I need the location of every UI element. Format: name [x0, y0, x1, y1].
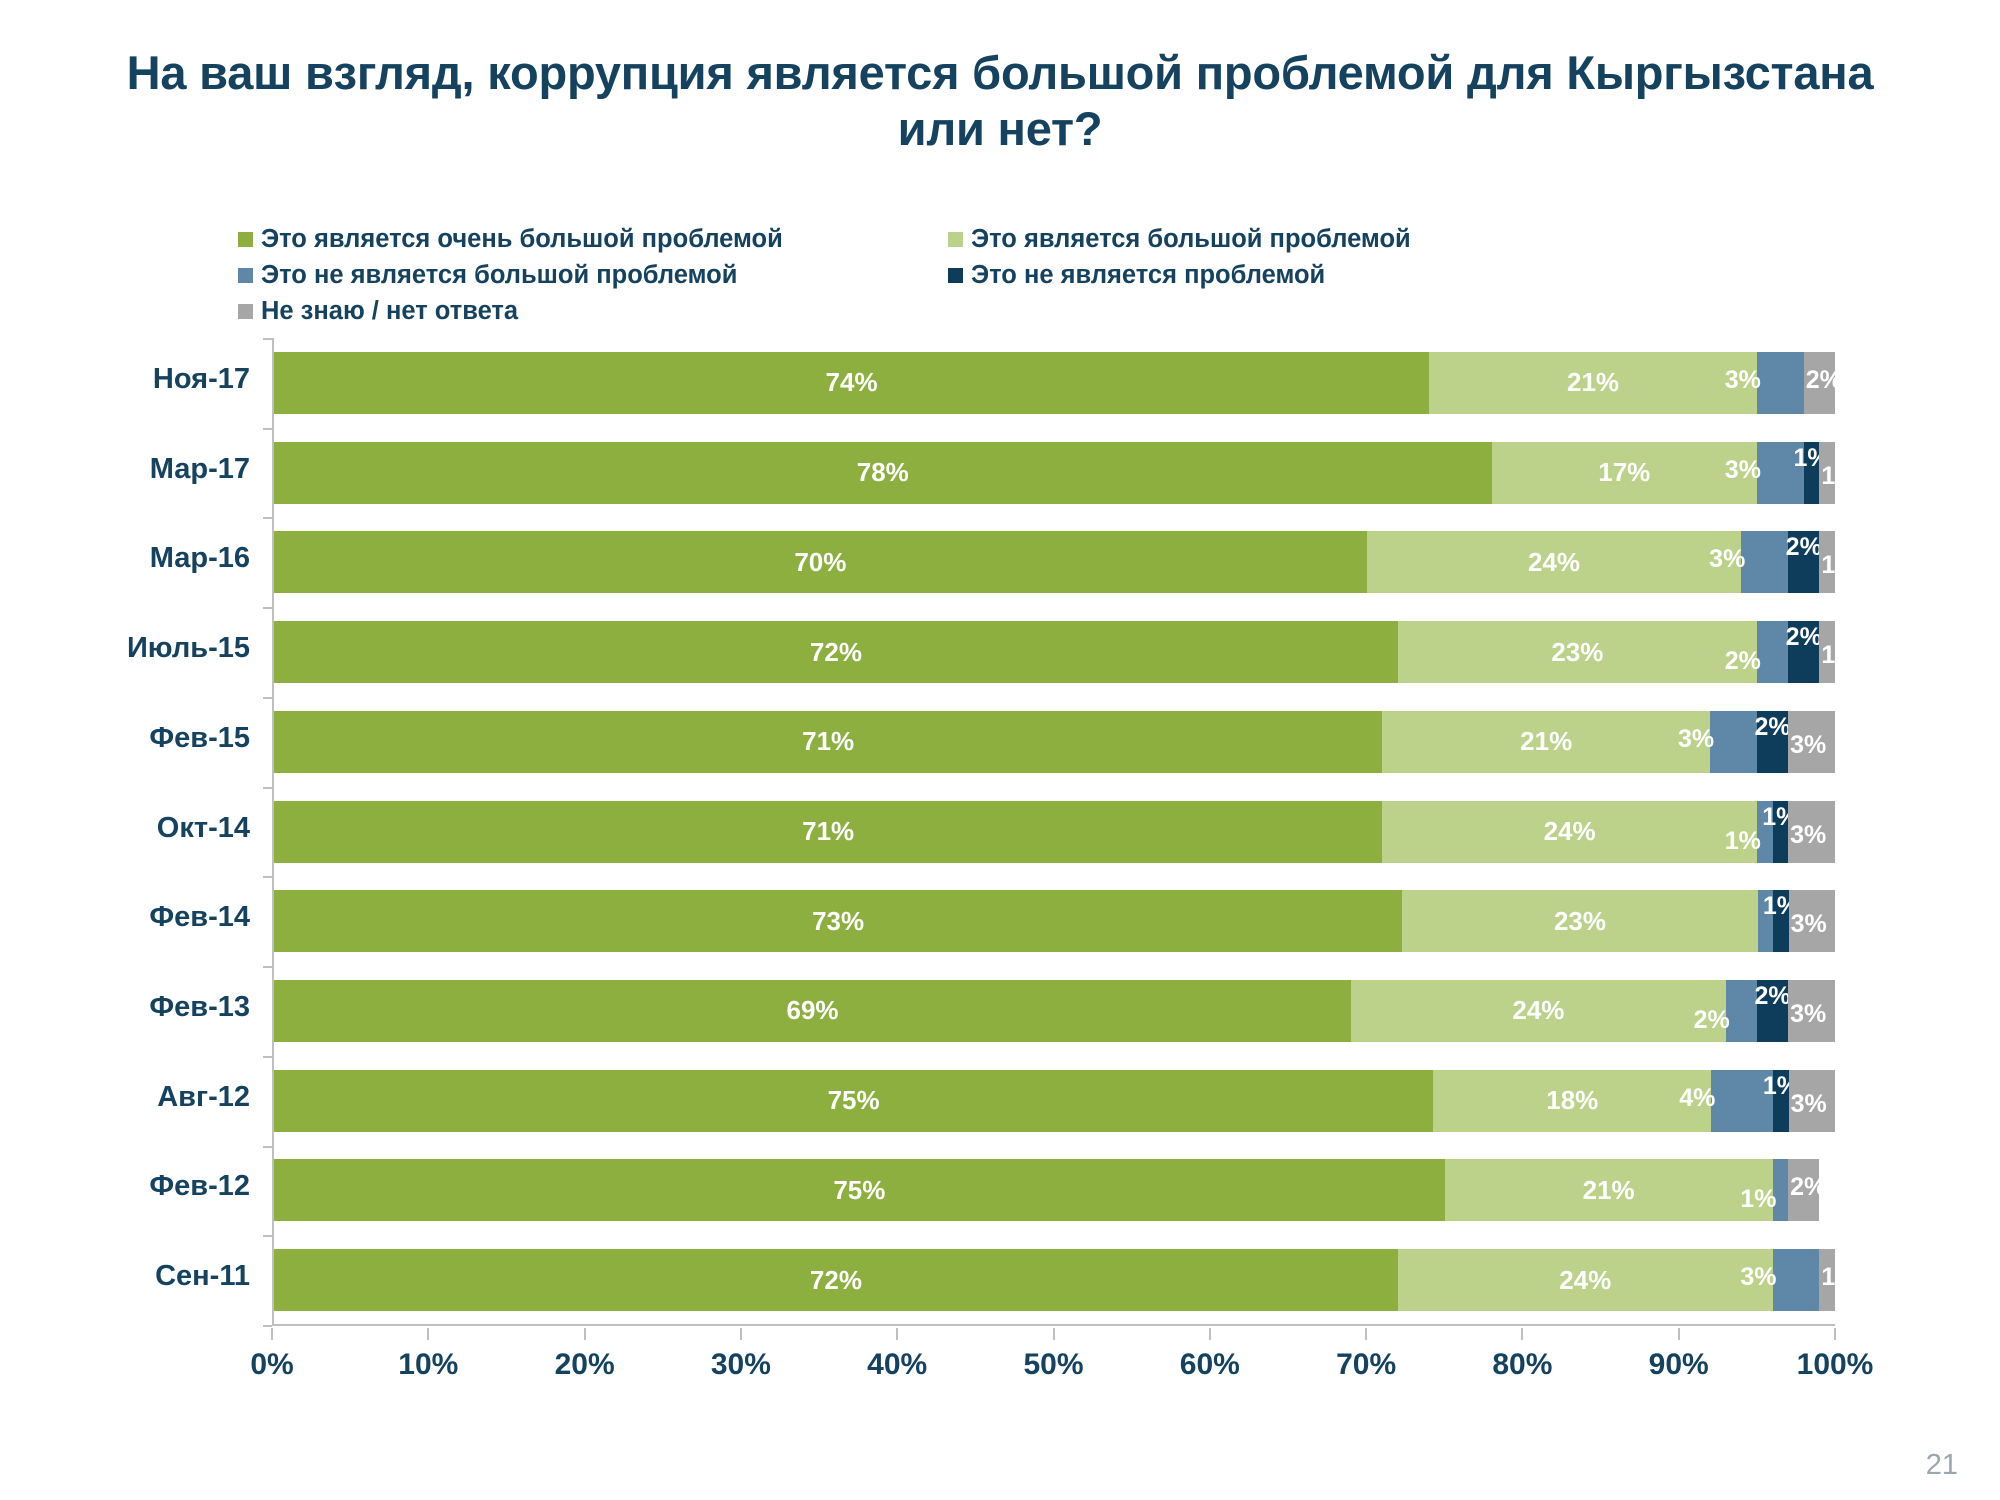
- bar-segment-big[interactable]: 24%: [1351, 980, 1726, 1042]
- bar-segment-very_big[interactable]: 74%: [274, 352, 1429, 414]
- value-axis-tick: [271, 1328, 273, 1340]
- bar-row[interactable]: 72%24%3%1%: [274, 1249, 1835, 1311]
- axis-tick: [263, 428, 272, 430]
- bar-segment-not_big[interactable]: 3%: [1741, 531, 1788, 593]
- legend-label: Это не является проблемой: [971, 261, 1325, 290]
- value-axis-label-6: 60%: [1180, 1348, 1240, 1382]
- bar-row[interactable]: 70%24%3%2%1%: [274, 531, 1835, 593]
- value-axis-label-9: 90%: [1649, 1348, 1709, 1382]
- bar-segment-dont_know[interactable]: 1%: [1819, 531, 1835, 593]
- bar-segment-value: 2%: [1806, 366, 1842, 395]
- category-label-6: Фев-14: [90, 901, 250, 934]
- bar-segment-dont_know[interactable]: 3%: [1789, 1070, 1835, 1132]
- bar-segment-value: 70%: [794, 547, 846, 578]
- value-axis-label-5: 50%: [1023, 1348, 1083, 1382]
- bar-segment-very_big[interactable]: 72%: [274, 1249, 1398, 1311]
- value-axis-tick: [1053, 1328, 1055, 1340]
- bar-segment-not_problem[interactable]: 2%: [1757, 980, 1788, 1042]
- legend-swatch-dont_know: [238, 304, 253, 319]
- value-axis-label-0: 0%: [250, 1348, 293, 1382]
- value-axis-label-1: 10%: [398, 1348, 458, 1382]
- bar-segment-value: 21%: [1567, 367, 1619, 398]
- bar-segment-not_big[interactable]: 3%: [1757, 442, 1804, 504]
- category-label-10: Сен-11: [90, 1260, 250, 1293]
- bar-segment-big[interactable]: 24%: [1398, 1249, 1773, 1311]
- bar-segment-very_big[interactable]: 72%: [274, 621, 1398, 683]
- category-axis-line: [272, 1324, 1835, 1326]
- bar-segment-very_big[interactable]: 71%: [274, 801, 1382, 863]
- bar-segment-value: 1%: [1821, 462, 1857, 491]
- bar-segment-value: 2%: [1754, 713, 1790, 742]
- bar-segment-value: 3%: [1790, 731, 1826, 760]
- axis-tick: [263, 1146, 272, 1148]
- value-axis-tick: [1365, 1328, 1367, 1340]
- bar-segment-value: 18%: [1546, 1085, 1598, 1116]
- bar-row[interactable]: 69%24%2%2%3%: [274, 980, 1835, 1042]
- slide: На ваш взгляд, коррупция является большо…: [0, 0, 2000, 1500]
- value-axis-tick: [1834, 1328, 1836, 1340]
- axis-tick: [263, 607, 272, 609]
- bar-segment-not_problem[interactable]: 1%: [1773, 890, 1788, 952]
- value-axis-tick: [584, 1328, 586, 1340]
- value-axis-label-2: 20%: [555, 1348, 615, 1382]
- bar-segment-big[interactable]: 24%: [1382, 801, 1757, 863]
- legend-label: Это является большой проблемой: [971, 225, 1411, 254]
- bar-segment-very_big[interactable]: 75%: [274, 1070, 1433, 1132]
- bar-segment-value: 17%: [1598, 457, 1650, 488]
- bar-segment-value: 21%: [1583, 1175, 1635, 1206]
- value-axis-tick: [1521, 1328, 1523, 1340]
- bar-segment-value: 3%: [1790, 1000, 1826, 1029]
- value-axis-tick: [896, 1328, 898, 1340]
- bar-segment-dont_know[interactable]: 1%: [1819, 442, 1835, 504]
- bar-segment-value: 24%: [1559, 1265, 1611, 1296]
- bar-segment-big[interactable]: 18%: [1433, 1070, 1711, 1132]
- bar-segment-value: 78%: [857, 457, 909, 488]
- bar-row[interactable]: 71%21%3%2%3%: [274, 711, 1835, 773]
- bar-segment-big[interactable]: 23%: [1398, 621, 1757, 683]
- legend-item-not_big[interactable]: Это не является большой проблемой: [238, 258, 948, 292]
- bar-segment-value: 24%: [1528, 547, 1580, 578]
- axis-tick: [263, 338, 272, 340]
- bar-segment-value: 2%: [1790, 1173, 1826, 1202]
- bar-segment-big[interactable]: 17%: [1492, 442, 1757, 504]
- bar-segment-very_big[interactable]: 71%: [274, 711, 1382, 773]
- bar-segment-very_big[interactable]: 78%: [274, 442, 1492, 504]
- value-axis-label-3: 30%: [711, 1348, 771, 1382]
- bar-segment-value: 73%: [812, 906, 864, 937]
- bar-segment-not_big[interactable]: 2%: [1757, 621, 1788, 683]
- bar-segment-value: 2%: [1754, 982, 1790, 1011]
- value-axis-label-10: 100%: [1797, 1348, 1874, 1382]
- bar-segment-big[interactable]: 21%: [1445, 1159, 1773, 1221]
- bar-segment-dont_know[interactable]: 3%: [1788, 801, 1835, 863]
- legend-item-dont_know[interactable]: Не знаю / нет ответа: [238, 294, 948, 328]
- bar-segment-big[interactable]: 21%: [1382, 711, 1710, 773]
- category-label-1: Мар-17: [90, 453, 250, 486]
- value-axis-tick: [1678, 1328, 1680, 1340]
- bar-segment-value: 1%: [1821, 641, 1857, 670]
- bar-segment-big[interactable]: 23%: [1402, 890, 1757, 952]
- legend-swatch-not_problem: [948, 268, 963, 283]
- bar-segment-value: 23%: [1551, 637, 1603, 668]
- bar-segment-value: 72%: [810, 637, 862, 668]
- bar-segment-value: 21%: [1520, 726, 1572, 757]
- legend-item-very_big[interactable]: Это является очень большой проблемой: [238, 222, 948, 256]
- bar-segment-not_problem[interactable]: 1%: [1773, 1070, 1788, 1132]
- bar-segment-value: 2%: [1786, 623, 1822, 652]
- axis-tick: [263, 1235, 272, 1237]
- bar-segment-very_big[interactable]: 70%: [274, 531, 1367, 593]
- bar-segment-value: 1%: [1821, 1263, 1857, 1292]
- bar-segment-not_big[interactable]: [1758, 890, 1773, 952]
- bar-row[interactable]: 73%23%1%3%: [274, 890, 1835, 952]
- bar-segment-value: 69%: [787, 995, 839, 1026]
- value-axis-tick: [1209, 1328, 1211, 1340]
- bar-segment-very_big[interactable]: 69%: [274, 980, 1351, 1042]
- category-label-4: Фев-15: [90, 722, 250, 755]
- legend-swatch-not_big: [238, 268, 253, 283]
- axis-tick: [263, 1325, 272, 1327]
- bar-segment-value: 24%: [1544, 816, 1596, 847]
- bar-segment-value: 71%: [802, 726, 854, 757]
- category-label-9: Фев-12: [90, 1170, 250, 1203]
- bar-segment-value: 72%: [810, 1265, 862, 1296]
- legend-label: Не знаю / нет ответа: [261, 297, 518, 326]
- category-label-0: Ноя-17: [90, 363, 250, 396]
- bar-segment-value: 2%: [1786, 533, 1822, 562]
- category-label-8: Авг-12: [90, 1081, 250, 1114]
- bar-segment-value: 75%: [828, 1085, 880, 1116]
- bar-segment-very_big[interactable]: 75%: [274, 1159, 1445, 1221]
- legend-label: Это является очень большой проблемой: [261, 225, 783, 254]
- legend-item-big[interactable]: Это является большой проблемой: [948, 222, 1658, 256]
- axis-tick: [263, 787, 272, 789]
- bar-row[interactable]: 72%23%2%2%1%: [274, 621, 1835, 683]
- bar-segment-not_problem[interactable]: 2%: [1788, 531, 1819, 593]
- bar-segment-not_big[interactable]: 3%: [1757, 352, 1804, 414]
- bar-segment-dont_know[interactable]: 3%: [1788, 711, 1835, 773]
- page-title: На ваш взгляд, коррупция является большо…: [110, 45, 1890, 158]
- bar-segment-value: 71%: [802, 816, 854, 847]
- axis-tick: [263, 697, 272, 699]
- category-label-7: Фев-13: [90, 991, 250, 1024]
- bar-segment-dont_know[interactable]: 3%: [1789, 890, 1835, 952]
- bar-segment-value: 3%: [1791, 910, 1827, 939]
- chart-legend: Это является очень большой проблемойЭто …: [238, 222, 1658, 330]
- bar-segment-not_big[interactable]: 1%: [1757, 801, 1773, 863]
- bar-segment-not_big[interactable]: 3%: [1710, 711, 1757, 773]
- bar-segment-value: 74%: [826, 367, 878, 398]
- bar-segment-very_big[interactable]: 73%: [274, 890, 1402, 952]
- category-label-5: Окт-14: [90, 812, 250, 845]
- category-label-3: Июль-15: [90, 632, 250, 665]
- bar-segment-not_problem[interactable]: 2%: [1788, 621, 1819, 683]
- axis-tick: [263, 1056, 272, 1058]
- value-axis-labels: 0%10%20%30%40%50%60%70%80%90%100%: [272, 1340, 1835, 1390]
- bar-segment-not_problem[interactable]: 1%: [1804, 442, 1820, 504]
- bar-row[interactable]: 74%21%3%2%: [274, 352, 1835, 414]
- bar-segment-big[interactable]: 21%: [1429, 352, 1757, 414]
- bar-segment-big[interactable]: 24%: [1367, 531, 1742, 593]
- category-label-2: Мар-16: [90, 542, 250, 575]
- legend-item-not_problem[interactable]: Это не является проблемой: [948, 258, 1658, 292]
- bar-segment-value: 3%: [1791, 1090, 1827, 1119]
- bar-segment-dont_know[interactable]: 2%: [1788, 1159, 1819, 1221]
- bar-segment-dont_know[interactable]: 1%: [1819, 621, 1835, 683]
- bar-row[interactable]: 75%18%4%1%3%: [274, 1070, 1835, 1132]
- bar-segment-dont_know[interactable]: 1%: [1819, 1249, 1835, 1311]
- legend-swatch-big: [948, 232, 963, 247]
- bar-segment-value: 24%: [1512, 995, 1564, 1026]
- bar-segment-dont_know[interactable]: 2%: [1804, 352, 1835, 414]
- axis-tick: [263, 876, 272, 878]
- value-axis-tick: [740, 1328, 742, 1340]
- legend-swatch-very_big: [238, 232, 253, 247]
- value-axis-label-4: 40%: [867, 1348, 927, 1382]
- bar-row[interactable]: 75%21%1%2%: [274, 1159, 1835, 1221]
- bar-segment-value: 75%: [833, 1175, 885, 1206]
- value-axis-label-8: 80%: [1492, 1348, 1552, 1382]
- chart-plot-area: 74%21%3%2%78%17%3%1%1%70%24%3%2%1%72%23%…: [272, 338, 1835, 1325]
- axis-tick: [263, 966, 272, 968]
- bar-segment-not_big[interactable]: 3%: [1773, 1249, 1820, 1311]
- bar-segment-not_problem[interactable]: 2%: [1757, 711, 1788, 773]
- bar-segment-not_big[interactable]: 2%: [1726, 980, 1757, 1042]
- bar-segment-value: 1%: [1821, 551, 1857, 580]
- bar-row[interactable]: 78%17%3%1%1%: [274, 442, 1835, 504]
- value-axis-label-7: 70%: [1336, 1348, 1396, 1382]
- legend-label: Это не является большой проблемой: [261, 261, 737, 290]
- bar-segment-not_problem[interactable]: 1%: [1773, 801, 1789, 863]
- bar-segment-value: 3%: [1790, 821, 1826, 850]
- bar-segment-dont_know[interactable]: 3%: [1788, 980, 1835, 1042]
- bar-segment-not_big[interactable]: 1%: [1773, 1159, 1789, 1221]
- bar-segment-value: 23%: [1554, 906, 1606, 937]
- bar-row[interactable]: 71%24%1%1%3%: [274, 801, 1835, 863]
- value-axis-tick: [427, 1328, 429, 1340]
- page-number: 21: [1926, 1449, 1958, 1482]
- axis-tick: [263, 517, 272, 519]
- bar-segment-not_big[interactable]: 4%: [1711, 1070, 1773, 1132]
